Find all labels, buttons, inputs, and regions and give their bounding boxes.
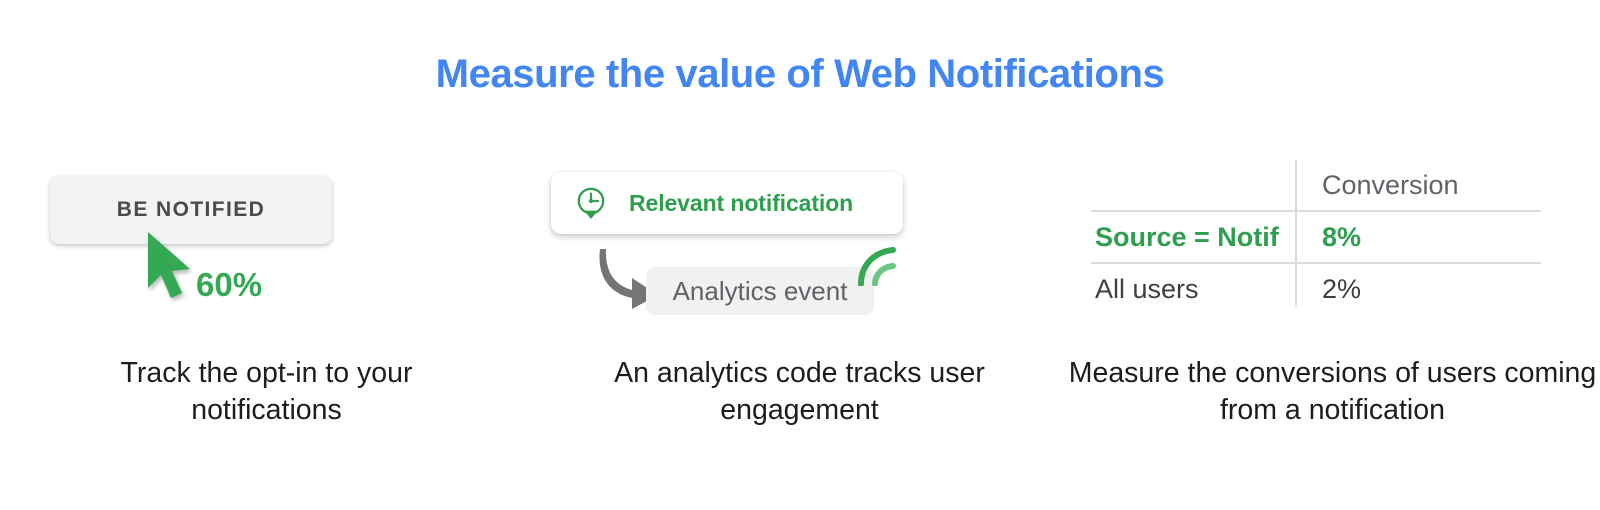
panel-conversions-visual: Conversion Source = Notif 8% All users 2… <box>1066 150 1599 345</box>
panels-row: BE NOTIFIED 60% Track the opt-in to your… <box>0 150 1600 450</box>
table-row[interactable]: Source = Notif 8% <box>1091 211 1541 263</box>
relevant-notification-card[interactable]: Relevant notification <box>551 172 903 234</box>
slide-root: { "slide": { "title": "Measure the value… <box>0 0 1600 510</box>
page-title: Measure the value of Web Notifications <box>0 52 1600 97</box>
table-row[interactable]: All users 2% <box>1091 263 1541 314</box>
table-cell-source-value: 8% <box>1300 211 1541 263</box>
conversion-table: Conversion Source = Notif 8% All users 2… <box>1091 160 1541 314</box>
panel-conversions-caption: Measure the conversions of users coming … <box>1066 355 1599 429</box>
be-notified-button-label: BE NOTIFIED <box>117 198 265 222</box>
signal-waves-icon <box>855 246 897 286</box>
table-cell-source-label: Source = Notif <box>1091 211 1300 263</box>
table-header-conversion: Conversion <box>1300 160 1541 211</box>
table-header-blank <box>1091 160 1300 211</box>
panel-opt-in-caption: Track the opt-in to your notifications <box>0 355 533 429</box>
panel-analytics: Relevant notification Analytics event An… <box>533 150 1066 450</box>
panel-opt-in: BE NOTIFIED 60% Track the opt-in to your… <box>0 150 533 450</box>
panel-analytics-caption: An analytics code tracks user engagement <box>533 355 1066 429</box>
table-column-divider <box>1295 160 1297 307</box>
opt-in-rate-value: 60% <box>196 266 262 304</box>
relevant-notification-label: Relevant notification <box>629 190 853 217</box>
table-cell-allusers-label: All users <box>1091 263 1300 314</box>
panel-opt-in-visual: BE NOTIFIED 60% <box>0 150 533 345</box>
analytics-event-chip-label: Analytics event <box>673 276 848 307</box>
panel-conversions: Conversion Source = Notif 8% All users 2… <box>1066 150 1599 450</box>
table-cell-allusers-value: 2% <box>1300 263 1541 314</box>
table-header-row: Conversion <box>1091 160 1541 211</box>
panel-analytics-visual: Relevant notification Analytics event <box>533 150 1066 345</box>
analytics-event-chip[interactable]: Analytics event <box>646 267 874 315</box>
clock-pin-icon <box>575 186 607 220</box>
mouse-cursor-icon <box>142 230 204 302</box>
